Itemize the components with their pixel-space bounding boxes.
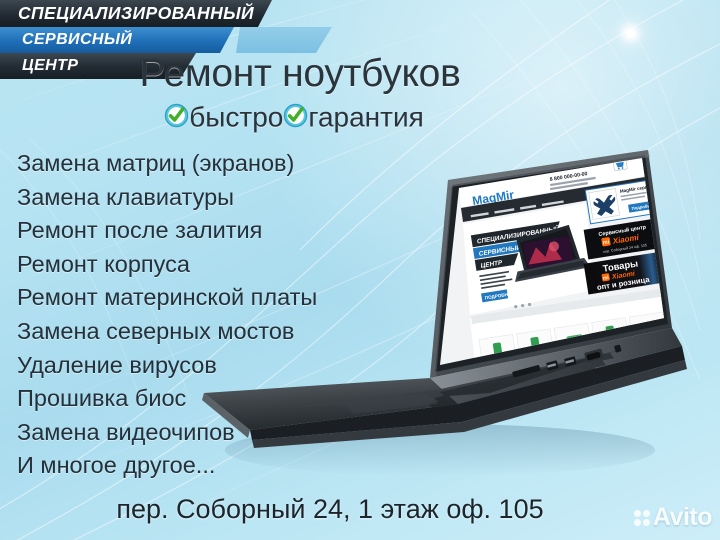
- ribbon-wedge: [236, 27, 332, 53]
- benefit-fast: быстро: [189, 102, 283, 133]
- avito-watermark-label: Avito: [653, 503, 712, 532]
- glow-dot-icon: [626, 29, 635, 38]
- green-check-icon: [164, 103, 189, 128]
- laptop-photo: MagMir 8 800 000-00-00: [190, 150, 690, 480]
- poster-canvas: СПЕЦИАЛИЗИРОВАННЫЙ СЕРВИСНЫЙ ЦЕНТР Ремон…: [0, 0, 720, 540]
- address-line: пер. Соборный 24, 1 этаж оф. 105: [0, 494, 660, 525]
- ribbon-label-2: СЕРВИСНЫЙ: [22, 31, 132, 49]
- green-check-icon-2: [283, 103, 308, 128]
- avito-watermark: Avito: [634, 503, 712, 532]
- avito-dots-icon: [634, 510, 650, 526]
- ribbon-label-1: СПЕЦИАЛИЗИРОВАННЫЙ: [18, 3, 254, 24]
- ribbon-specialized: СПЕЦИАЛИЗИРОВАННЫЙ: [0, 0, 272, 27]
- subtitle-benefits: быстро гарантия: [0, 100, 588, 134]
- page-title: Ремонт ноутбуков: [0, 52, 600, 96]
- benefit-warranty: гарантия: [308, 102, 423, 133]
- ribbon-service: СЕРВИСНЫЙ: [0, 27, 234, 53]
